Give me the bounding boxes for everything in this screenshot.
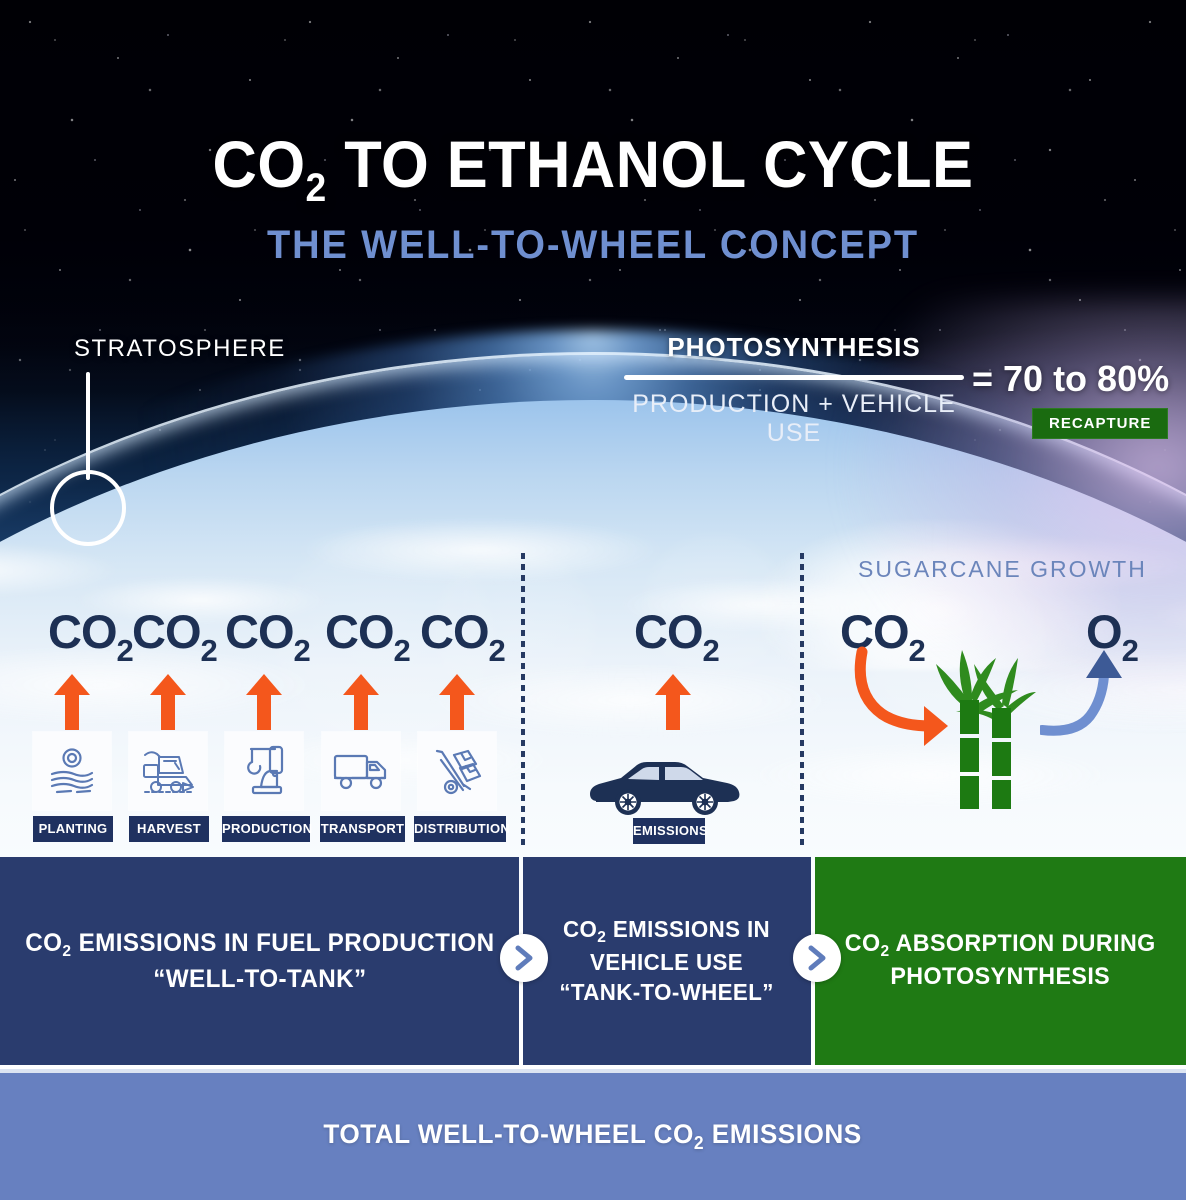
car-icon[interactable]: [588, 755, 744, 822]
section-divider: [521, 553, 525, 850]
stratosphere-label: STRATOSPHERE: [74, 335, 286, 363]
emission-arrow-icon: [245, 674, 283, 730]
stage-label-planting: PLANTING: [33, 816, 113, 842]
stage-icon-transport[interactable]: [322, 732, 400, 810]
summary-bar-text: CO2 EMISSIONS IN FUEL PRODUCTION “WELL-T…: [9, 927, 509, 994]
stage-label-transport: TRANSPORT: [320, 816, 405, 842]
co2-label: CO2: [48, 604, 133, 669]
summary-bars: CO2 EMISSIONS IN FUEL PRODUCTION “WELL-T…: [0, 857, 1186, 1065]
formula-divider-bar: [624, 375, 964, 380]
formula-numerator: PHOTOSYNTHESIS: [620, 332, 968, 363]
emission-arrow-icon: [149, 674, 187, 730]
footer-bar: TOTAL WELL-TO-WHEEL CO2 EMISSIONS: [0, 1069, 1186, 1200]
formula-denominator: PRODUCTION + VEHICLE USE: [620, 390, 968, 448]
summary-bar-text: CO2 ABSORPTION DURING PHOTOSYNTHESIS: [830, 929, 1172, 993]
stage-label-distribution: DISTRIBUTION: [414, 816, 506, 842]
recapture-badge: RECAPTURE: [1032, 408, 1168, 439]
photosynthesis-formula: PHOTOSYNTHESIS PRODUCTION + VEHICLE USE …: [620, 332, 1186, 448]
co2-label: CO2: [325, 604, 410, 669]
stage-icon-planting[interactable]: [33, 732, 111, 810]
sugarcane-icon[interactable]: [930, 636, 1040, 816]
o2-release-arrow-icon: [1040, 642, 1140, 757]
title-block: CO2 TO ETHANOL CYCLE THE WELL-TO-WHEEL C…: [0, 126, 1186, 268]
co2-label: CO2: [225, 604, 310, 669]
co2-label-vehicle: CO2: [634, 604, 719, 669]
sugarcane-growth-heading: SUGARCANE GROWTH: [858, 556, 1147, 583]
infographic-canvas: CO2 TO ETHANOL CYCLE THE WELL-TO-WHEEL C…: [0, 0, 1186, 1200]
stage-icon-distribution[interactable]: [418, 732, 496, 810]
emission-arrow-icon: [342, 674, 380, 730]
section-divider: [800, 553, 804, 850]
emission-arrow-icon: [438, 674, 476, 730]
summary-bar-well-to-tank: CO2 EMISSIONS IN FUEL PRODUCTION “WELL-T…: [0, 857, 519, 1065]
page-subtitle: THE WELL-TO-WHEEL CONCEPT: [30, 223, 1157, 268]
stage-icon-harvest[interactable]: [129, 732, 207, 810]
page-title: CO2 TO ETHANOL CYCLE: [42, 126, 1145, 211]
stage-label-emissions: EMISSIONS: [633, 818, 705, 844]
stage-label-production: PRODUCTION: [222, 816, 310, 842]
summary-bar-absorption: CO2 ABSORPTION DURING PHOTOSYNTHESIS: [815, 857, 1186, 1065]
formula-result: = 70 to 80%: [972, 358, 1169, 400]
stage-icon-production[interactable]: [225, 732, 303, 810]
stage-label-harvest: HARVEST: [129, 816, 209, 842]
stratosphere-marker-circle: [50, 470, 126, 546]
co2-label: CO2: [420, 604, 505, 669]
summary-bar-tank-to-wheel: CO2 EMISSIONS IN VEHICLE USE “TANK-TO-WH…: [523, 857, 811, 1065]
summary-bar-text: CO2 EMISSIONS IN VEHICLE USE “TANK-TO-WH…: [544, 915, 789, 1007]
stratosphere-leader-line: [86, 372, 90, 480]
chevron-right-icon: [500, 934, 548, 982]
chevron-right-icon: [793, 934, 841, 982]
footer-text: TOTAL WELL-TO-WHEEL CO2 EMISSIONS: [324, 1119, 862, 1154]
emission-arrow-icon: [53, 674, 91, 730]
co2-label: CO2: [132, 604, 217, 669]
emission-arrow-icon: [654, 674, 692, 730]
